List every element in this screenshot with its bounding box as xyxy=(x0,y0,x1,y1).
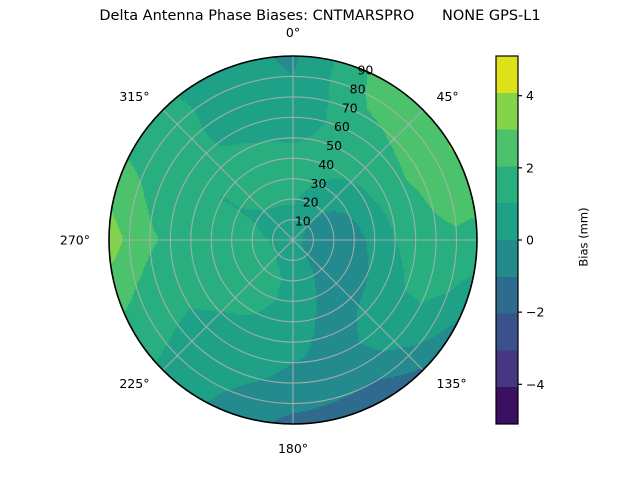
angular-tick-label: 45° xyxy=(437,89,459,104)
radial-tick-label: 90 xyxy=(357,63,373,78)
colorbar-band xyxy=(496,387,518,424)
radial-tick-label: 20 xyxy=(303,195,319,210)
page-title: Delta Antenna Phase Biases: CNTMARSPRO N… xyxy=(0,8,640,24)
colorbar-band xyxy=(496,56,518,93)
angular-tick-label: 225° xyxy=(119,376,149,391)
colorbar: 420−2−4 xyxy=(496,56,544,424)
colorbar-band xyxy=(496,203,518,240)
colorbar-tick-label: 0 xyxy=(526,233,534,248)
radial-tick-label: 80 xyxy=(350,81,366,96)
angular-tick-label: 135° xyxy=(437,376,467,391)
radial-tick-label: 10 xyxy=(295,214,311,229)
colorbar-band xyxy=(496,240,518,277)
radial-tick-label: 30 xyxy=(311,176,327,191)
colorbar-band xyxy=(496,350,518,387)
colorbar-tick-label: −4 xyxy=(526,377,544,392)
polar-contour-plot: 0°45°90135°180°225°270°315° 102030405060… xyxy=(0,0,640,480)
colorbar-band xyxy=(496,314,518,351)
colorbar-band xyxy=(496,130,518,167)
figure-canvas: Delta Antenna Phase Biases: CNTMARSPRO N… xyxy=(0,0,640,480)
angular-tick-label: 315° xyxy=(119,89,149,104)
colorbar-band xyxy=(496,277,518,314)
colorbar-tick-label: −2 xyxy=(526,305,544,320)
radial-tick-label: 50 xyxy=(326,138,342,153)
angular-tick-label: 270° xyxy=(60,233,90,248)
colorbar-band xyxy=(496,166,518,203)
colorbar-tick-label: 4 xyxy=(526,88,534,103)
radial-tick-label: 70 xyxy=(342,100,358,115)
angular-tick-label: 0° xyxy=(286,25,300,40)
polar-grid xyxy=(109,56,477,424)
colorbar-tick-label: 2 xyxy=(526,160,534,175)
colorbar-axis-label: Bias (mm) xyxy=(577,207,591,266)
colorbar-band xyxy=(496,93,518,130)
radial-tick-label: 40 xyxy=(318,157,334,172)
angular-tick-label: 180° xyxy=(278,441,308,456)
radial-tick-label: 60 xyxy=(334,119,350,134)
